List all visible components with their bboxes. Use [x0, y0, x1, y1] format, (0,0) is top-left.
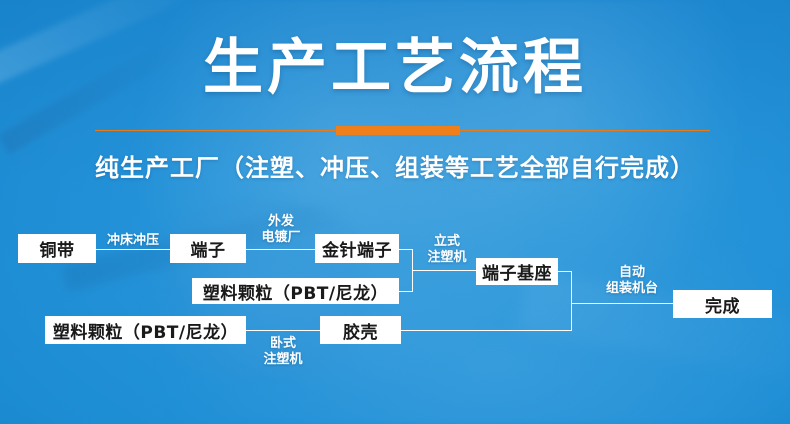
- node-plastic-pellet-1[interactable]: 塑料颗粒（PBT/尼龙）: [192, 278, 399, 304]
- edge-label-vertical-molding: 立式 注塑机: [418, 234, 476, 266]
- edge-label-stamping: 冲床冲压: [96, 233, 170, 249]
- production-flowchart: 冲床冲压 外发 电镀厂 立式 注塑机 卧式 注塑机 自动 组装机台 铜带 端子 …: [0, 200, 790, 424]
- edge-label-outsourced-plating-line2: 电镀厂: [246, 230, 316, 246]
- edge-line-pellet1-stub: [398, 291, 413, 292]
- page-subtitle: 纯生产工厂（注塑、冲压、组装等工艺全部自行完成）: [0, 148, 790, 183]
- title-divider-bar: [336, 126, 460, 135]
- node-copper-strip[interactable]: 铜带: [18, 234, 96, 263]
- edge-line-housing-to-bracket: [400, 330, 572, 331]
- edge-label-horizontal-molding-line2: 注塑机: [253, 352, 313, 368]
- edge-label-outsourced-plating: 外发 电镀厂: [246, 214, 316, 246]
- node-plastic-pellet-2[interactable]: 塑料颗粒（PBT/尼龙）: [45, 316, 246, 344]
- edge-label-vertical-molding-line1: 立式: [418, 234, 476, 250]
- edge-line-goldpin-stub: [398, 249, 413, 250]
- edge-line-terminal-to-goldpin: [245, 249, 316, 250]
- edge-label-auto-assembly-line1: 自动: [588, 265, 676, 281]
- node-finished[interactable]: 完成: [673, 290, 772, 318]
- edge-label-vertical-molding-line2: 注塑机: [418, 250, 476, 266]
- page-title: 生产工艺流程: [0, 38, 790, 98]
- edge-bracket-right-vertical: [571, 271, 572, 331]
- edge-label-auto-assembly: 自动 组装机台: [588, 265, 676, 297]
- edge-label-auto-assembly-line2: 组装机台: [588, 281, 676, 297]
- edge-line-bracket-to-base: [412, 270, 477, 271]
- edge-line-base-stub: [557, 271, 572, 272]
- edge-line-pellet2-to-housing: [245, 330, 321, 331]
- node-plastic-housing[interactable]: 胶壳: [320, 316, 401, 344]
- node-terminal-base[interactable]: 端子基座: [476, 258, 558, 285]
- node-gold-pin-terminal[interactable]: 金针端子: [315, 234, 399, 263]
- banner-header: 生产工艺流程 纯生产工厂（注塑、冲压、组装等工艺全部自行完成）: [0, 0, 790, 200]
- edge-line-bracket-to-finished: [571, 303, 673, 304]
- node-terminal[interactable]: 端子: [170, 234, 246, 263]
- edge-label-horizontal-molding-line1: 卧式: [253, 336, 313, 352]
- promo-banner: 生产工艺流程 纯生产工厂（注塑、冲压、组装等工艺全部自行完成） 冲床冲压: [0, 0, 790, 424]
- edge-label-horizontal-molding: 卧式 注塑机: [253, 336, 313, 368]
- edge-line-copper-to-terminal: [95, 249, 171, 250]
- edge-label-outsourced-plating-line1: 外发: [246, 214, 316, 230]
